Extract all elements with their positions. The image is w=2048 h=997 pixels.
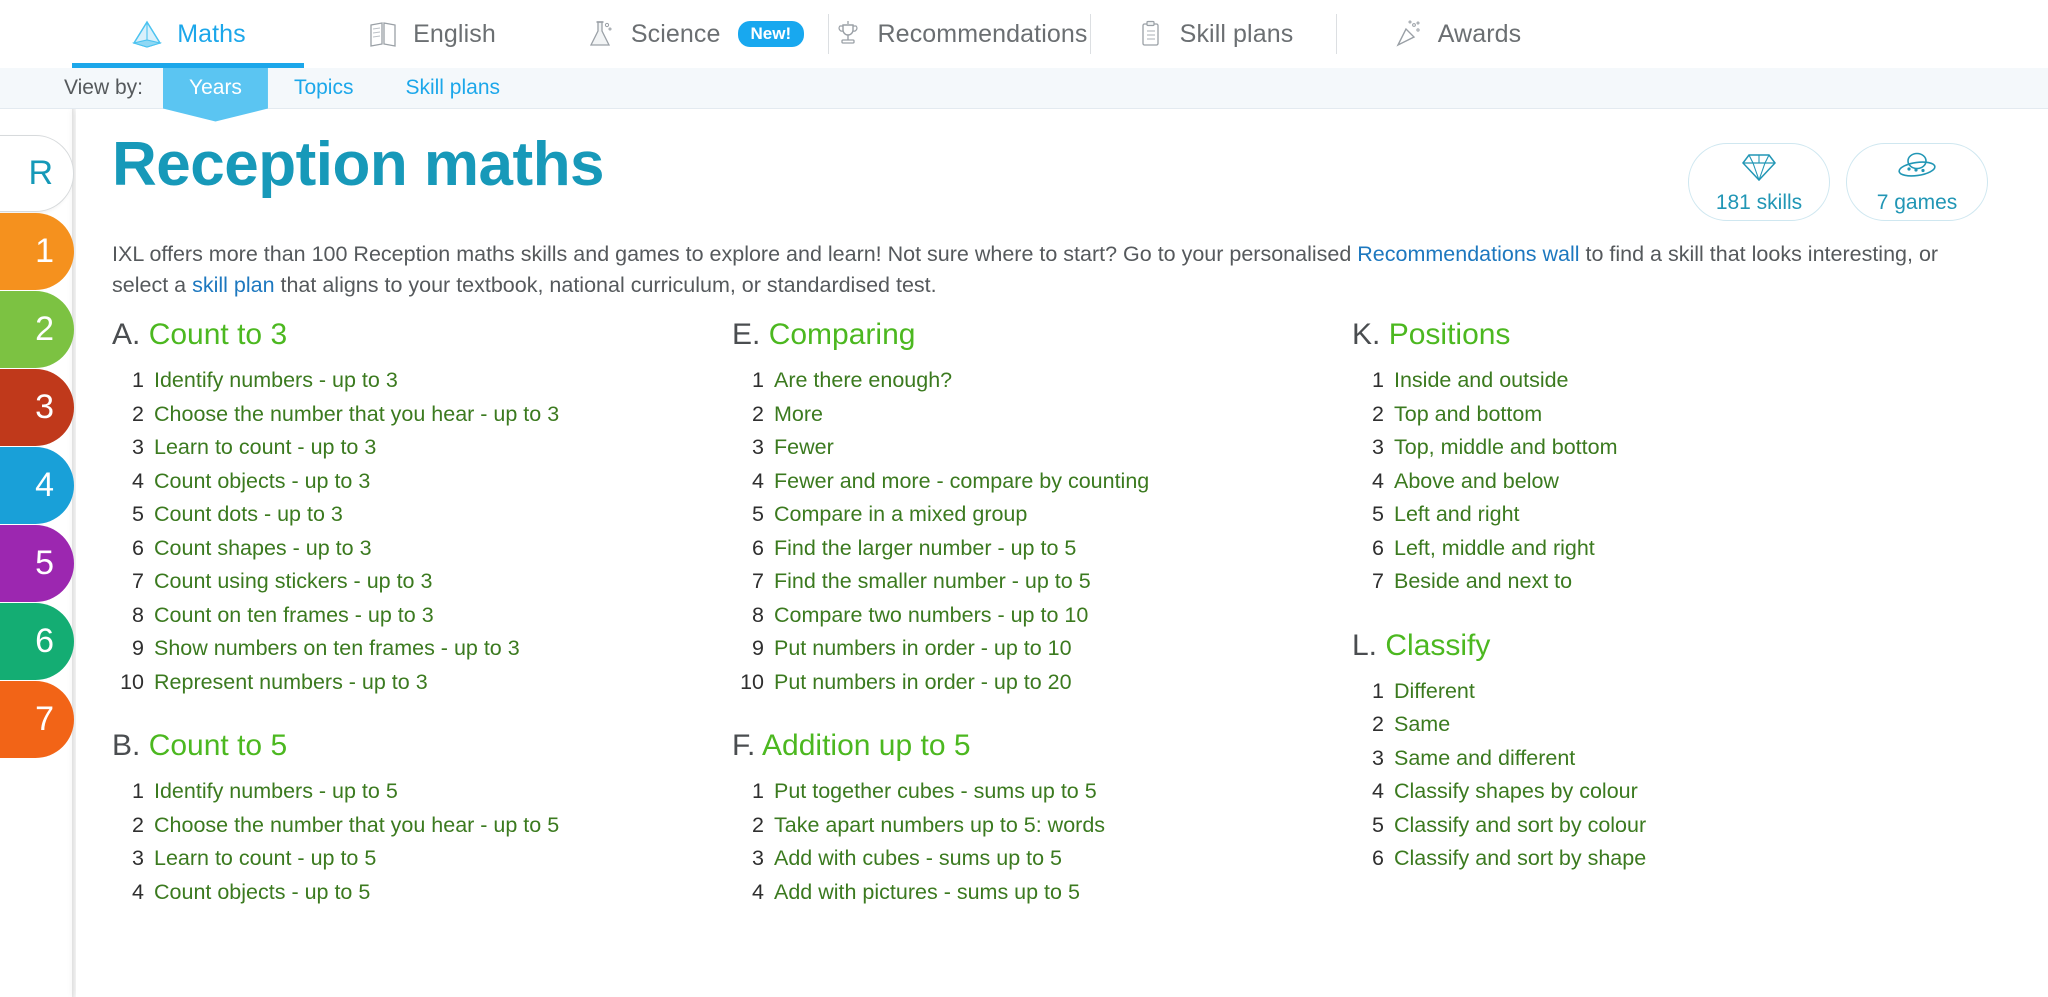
intro-text-3: that aligns to your textbook, national c…: [275, 273, 937, 297]
skill-link[interactable]: Put numbers in order - up to 20: [774, 672, 1072, 694]
skill-number: 3: [1352, 437, 1384, 459]
skill-row: 3Same and different: [1352, 742, 1992, 776]
skill-number: 1: [1352, 681, 1384, 703]
year-tab-5[interactable]: 5: [0, 525, 74, 602]
skill-number: 3: [112, 848, 144, 870]
nav-tab-recommendations[interactable]: Recommendations: [828, 0, 1090, 68]
stat-badge-label: 7 games: [1877, 191, 1958, 215]
skill-number: 1: [112, 781, 144, 803]
stat-badges: 181 skills7 games: [1688, 131, 1988, 221]
pyramid-icon: [130, 17, 164, 51]
skill-row: 4Above and below: [1352, 465, 1992, 499]
skill-link[interactable]: Compare in a mixed group: [774, 504, 1027, 526]
section-letter: L.: [1352, 629, 1377, 662]
skill-number: 2: [112, 815, 144, 837]
view-tab-skill-plans[interactable]: Skill plans: [379, 68, 526, 109]
skill-number: 10: [732, 672, 764, 694]
skill-row: 9Show numbers on ten frames - up to 3: [112, 632, 732, 666]
skill-section: L. Classify1Different2Same3Same and diff…: [1352, 629, 1992, 876]
skill-row: 1Are there enough?: [732, 364, 1352, 398]
skill-number: 4: [1352, 471, 1384, 493]
section-letter: K.: [1352, 318, 1380, 351]
section-letter: B.: [112, 729, 140, 762]
skill-number: 2: [732, 404, 764, 426]
skill-row: 7Count using stickers - up to 3: [112, 565, 732, 599]
view-tab-topics[interactable]: Topics: [268, 68, 380, 109]
skill-number: 4: [732, 471, 764, 493]
skill-column: E. Comparing1Are there enough?2More3Fewe…: [732, 318, 1352, 939]
skill-link[interactable]: Count objects - up to 3: [154, 471, 370, 493]
skill-row: 7Beside and next to: [1352, 565, 1992, 599]
skill-link[interactable]: Above and below: [1394, 471, 1559, 493]
skill-number: 6: [1352, 848, 1384, 870]
skill-number: 1: [1352, 370, 1384, 392]
skill-link[interactable]: Left and right: [1394, 504, 1520, 526]
skill-link[interactable]: Put together cubes - sums up to 5: [774, 781, 1097, 803]
skill-number: 3: [1352, 748, 1384, 770]
skill-row: 2Choose the number that you hear - up to…: [112, 809, 732, 843]
skill-number: 2: [732, 815, 764, 837]
year-rail: R1234567: [0, 109, 75, 997]
nav-tab-english[interactable]: English: [312, 0, 560, 68]
skill-number: 4: [112, 471, 144, 493]
skill-link[interactable]: Represent numbers - up to 3: [154, 672, 428, 694]
skill-row: 3Learn to count - up to 5: [112, 842, 732, 876]
section-heading: K. Positions: [1352, 318, 1992, 352]
section-title-link[interactable]: Addition up to 5: [762, 729, 971, 762]
flask-icon: [584, 17, 618, 51]
skill-row: 1Identify numbers - up to 5: [112, 775, 732, 809]
skill-row: 4Add with pictures - sums up to 5: [732, 876, 1352, 910]
skill-link[interactable]: Count using stickers - up to 3: [154, 571, 432, 593]
year-tab-label: 4: [35, 466, 54, 505]
view-tab-label: Skill plans: [405, 76, 500, 100]
skill-columns: A. Count to 31Identify numbers - up to 3…: [112, 318, 1988, 939]
skill-row: 1Identify numbers - up to 3: [112, 364, 732, 398]
skill-link[interactable]: Classify and sort by shape: [1394, 848, 1646, 870]
stat-badge-label: 181 skills: [1716, 191, 1802, 215]
nav-tab-science[interactable]: ScienceNew!: [560, 0, 828, 68]
skill-link[interactable]: Add with pictures - sums up to 5: [774, 882, 1080, 904]
skill-row: 8Compare two numbers - up to 10: [732, 599, 1352, 633]
skill-link[interactable]: Count objects - up to 5: [154, 882, 370, 904]
skill-link[interactable]: Left, middle and right: [1394, 538, 1595, 560]
skill-link[interactable]: Classify shapes by colour: [1394, 781, 1638, 803]
skill-number: 2: [112, 404, 144, 426]
year-tab-3[interactable]: 3: [0, 369, 74, 446]
skill-link[interactable]: Same: [1394, 714, 1450, 736]
section-letter: E.: [732, 318, 760, 351]
year-tab-label: 3: [35, 388, 54, 427]
year-tab-label: 1: [35, 232, 54, 271]
view-tab-label: Years: [189, 76, 242, 100]
stat-badge-diamond[interactable]: 181 skills: [1688, 143, 1830, 221]
skill-link[interactable]: Top and bottom: [1394, 404, 1542, 426]
skill-row: 2Choose the number that you hear - up to…: [112, 398, 732, 432]
skill-row: 6Left, middle and right: [1352, 532, 1992, 566]
skill-number: 3: [112, 437, 144, 459]
skill-row: 10Put numbers in order - up to 20: [732, 666, 1352, 700]
nav-tab-label: Recommendations: [878, 20, 1088, 49]
clipboard-icon: [1133, 17, 1167, 51]
year-tab-label: 5: [35, 544, 54, 583]
section-heading: L. Classify: [1352, 629, 1992, 663]
year-tab-label: R: [28, 154, 53, 193]
page-body: R1234567 Reception maths 181 skills7 gam…: [0, 109, 2048, 997]
skill-link[interactable]: Top, middle and bottom: [1394, 437, 1618, 459]
skill-row: 1Put together cubes - sums up to 5: [732, 775, 1352, 809]
skill-row: 4Classify shapes by colour: [1352, 775, 1992, 809]
page-title: Reception maths: [112, 131, 604, 199]
skill-link[interactable]: Same and different: [1394, 748, 1575, 770]
year-tab-6[interactable]: 6: [0, 603, 74, 680]
section-letter: F.: [732, 729, 755, 762]
section-heading: A. Count to 3: [112, 318, 732, 352]
skill-link[interactable]: Compare two numbers - up to 10: [774, 605, 1088, 627]
view-by-label: View by:: [64, 76, 143, 100]
skill-link[interactable]: Find the larger number - up to 5: [774, 538, 1076, 560]
nav-tab-maths[interactable]: Maths: [64, 0, 312, 68]
skill-number: 6: [732, 538, 764, 560]
skill-row: 1Inside and outside: [1352, 364, 1992, 398]
skill-number: 4: [1352, 781, 1384, 803]
stat-badge-ufo[interactable]: 7 games: [1846, 143, 1988, 221]
skill-number: 5: [732, 504, 764, 526]
diamond-icon: [1739, 150, 1779, 189]
skill-number: 7: [112, 571, 144, 593]
year-tab-label: 6: [35, 622, 54, 661]
skill-number: 10: [112, 672, 144, 694]
skill-row: 3Top, middle and bottom: [1352, 431, 1992, 465]
skill-row: 4Fewer and more - compare by counting: [732, 465, 1352, 499]
skill-number: 3: [732, 848, 764, 870]
skill-row: 6Classify and sort by shape: [1352, 842, 1992, 876]
skill-row: 10Represent numbers - up to 3: [112, 666, 732, 700]
skill-section: B. Count to 51Identify numbers - up to 5…: [112, 729, 732, 909]
skill-link[interactable]: Identify numbers - up to 5: [154, 781, 398, 803]
view-by-bar: View by: YearsTopicsSkill plans: [0, 68, 2048, 109]
year-tab-7[interactable]: 7: [0, 681, 74, 758]
year-tab-1[interactable]: 1: [0, 213, 74, 290]
year-tab-label: 2: [35, 310, 54, 349]
skill-link[interactable]: Find the smaller number - up to 5: [774, 571, 1091, 593]
skill-row: 5Compare in a mixed group: [732, 498, 1352, 532]
skill-link[interactable]: Add with cubes - sums up to 5: [774, 848, 1062, 870]
skill-number: 2: [1352, 404, 1384, 426]
section-title-link[interactable]: Classify: [1385, 629, 1490, 662]
skill-link[interactable]: Fewer: [774, 437, 834, 459]
skill-row: 2Same: [1352, 708, 1992, 742]
section-heading: B. Count to 5: [112, 729, 732, 763]
skill-row: 3Add with cubes - sums up to 5: [732, 842, 1352, 876]
skill-number: 5: [1352, 504, 1384, 526]
skill-number: 7: [732, 571, 764, 593]
trophy-icon: [831, 17, 865, 51]
skill-row: 4Count objects - up to 5: [112, 876, 732, 910]
skill-column: K. Positions1Inside and outside2Top and …: [1352, 318, 1992, 939]
skill-number: 8: [112, 605, 144, 627]
skill-number: 6: [1352, 538, 1384, 560]
skill-number: 8: [732, 605, 764, 627]
skill-row: 5Classify and sort by colour: [1352, 809, 1992, 843]
section-title-link[interactable]: Positions: [1389, 318, 1511, 351]
skill-row: 6Find the larger number - up to 5: [732, 532, 1352, 566]
skill-link[interactable]: Count shapes - up to 3: [154, 538, 372, 560]
skill-link[interactable]: Identify numbers - up to 3: [154, 370, 398, 392]
skill-number: 9: [732, 638, 764, 660]
book-icon: [366, 17, 400, 51]
skill-row: 5Count dots - up to 3: [112, 498, 732, 532]
new-badge: New!: [738, 21, 805, 47]
skill-row: 9Put numbers in order - up to 10: [732, 632, 1352, 666]
section-letter: A.: [112, 318, 140, 351]
view-tab-years[interactable]: Years: [163, 68, 268, 109]
skill-link[interactable]: Learn to count - up to 5: [154, 848, 376, 870]
year-tab-label: 7: [35, 700, 54, 739]
skill-link[interactable]: Choose the number that you hear - up to …: [154, 815, 559, 837]
section-heading: F. Addition up to 5: [732, 729, 1352, 763]
year-tab-2[interactable]: 2: [0, 291, 74, 368]
skill-row: 3Learn to count - up to 3: [112, 431, 732, 465]
skill-row: 3Fewer: [732, 431, 1352, 465]
skill-row: 2Take apart numbers up to 5: words: [732, 809, 1352, 843]
skill-number: 1: [732, 781, 764, 803]
main-content: Reception maths 181 skills7 games IXL of…: [76, 109, 2048, 997]
skill-link[interactable]: Beside and next to: [1394, 571, 1572, 593]
recommendations-wall-link[interactable]: Recommendations wall: [1357, 242, 1579, 266]
skill-link[interactable]: Put numbers in order - up to 10: [774, 638, 1072, 660]
year-tab-r[interactable]: R: [0, 135, 74, 212]
section-title-link[interactable]: Comparing: [769, 318, 916, 351]
section-heading: E. Comparing: [732, 318, 1352, 352]
skill-link[interactable]: Classify and sort by colour: [1394, 815, 1646, 837]
skill-number: 1: [112, 370, 144, 392]
skill-link[interactable]: Learn to count - up to 3: [154, 437, 376, 459]
header-row: Reception maths 181 skills7 games: [112, 131, 1988, 221]
top-navigation: MathsEnglishScienceNew!RecommendationsSk…: [0, 0, 2048, 68]
skill-number: 3: [732, 437, 764, 459]
intro-paragraph: IXL offers more than 100 Reception maths…: [112, 239, 1988, 300]
skill-plan-link[interactable]: skill plan: [192, 273, 274, 297]
skill-link[interactable]: Inside and outside: [1394, 370, 1569, 392]
nav-tab-skill-plans[interactable]: Skill plans: [1090, 0, 1336, 68]
nav-tab-awards[interactable]: Awards: [1336, 0, 1576, 68]
skill-section: F. Addition up to 51Put together cubes -…: [732, 729, 1352, 909]
skill-link[interactable]: Are there enough?: [774, 370, 952, 392]
skill-number: 6: [112, 538, 144, 560]
skill-link[interactable]: Different: [1394, 681, 1475, 703]
intro-text-1: IXL offers more than 100 Reception maths…: [112, 242, 1357, 266]
skill-number: 9: [112, 638, 144, 660]
skill-number: 4: [732, 882, 764, 904]
skill-link[interactable]: More: [774, 404, 823, 426]
skill-row: 8Count on ten frames - up to 3: [112, 599, 732, 633]
year-tab-4[interactable]: 4: [0, 447, 74, 524]
view-tab-label: Topics: [294, 76, 354, 100]
ufo-icon: [1895, 150, 1939, 189]
skill-number: 4: [112, 882, 144, 904]
nav-tab-label: Awards: [1438, 20, 1522, 49]
section-title-link[interactable]: Count to 5: [149, 729, 287, 762]
skill-link[interactable]: Fewer and more - compare by counting: [774, 471, 1149, 493]
nav-tab-label: Skill plans: [1180, 20, 1294, 49]
skill-link[interactable]: Take apart numbers up to 5: words: [774, 815, 1105, 837]
skill-number: 2: [1352, 714, 1384, 736]
skill-section: A. Count to 31Identify numbers - up to 3…: [112, 318, 732, 699]
skill-row: 1Different: [1352, 675, 1992, 709]
skill-link[interactable]: Show numbers on ten frames - up to 3: [154, 638, 520, 660]
skill-row: 2More: [732, 398, 1352, 432]
nav-tab-label: English: [413, 20, 496, 49]
skill-row: 4Count objects - up to 3: [112, 465, 732, 499]
skill-number: 5: [1352, 815, 1384, 837]
skill-row: 6Count shapes - up to 3: [112, 532, 732, 566]
skill-link[interactable]: Count on ten frames - up to 3: [154, 605, 434, 627]
skill-link[interactable]: Choose the number that you hear - up to …: [154, 404, 559, 426]
skill-row: 2Top and bottom: [1352, 398, 1992, 432]
skill-number: 7: [1352, 571, 1384, 593]
section-title-link[interactable]: Count to 3: [149, 318, 287, 351]
skill-row: 7Find the smaller number - up to 5: [732, 565, 1352, 599]
nav-tab-label: Science: [631, 20, 721, 49]
skill-column: A. Count to 31Identify numbers - up to 3…: [112, 318, 732, 939]
skill-section: E. Comparing1Are there enough?2More3Fewe…: [732, 318, 1352, 699]
skill-number: 5: [112, 504, 144, 526]
party-popper-icon: [1391, 17, 1425, 51]
skill-number: 1: [732, 370, 764, 392]
skill-link[interactable]: Count dots - up to 3: [154, 504, 343, 526]
skill-row: 5Left and right: [1352, 498, 1992, 532]
skill-section: K. Positions1Inside and outside2Top and …: [1352, 318, 1992, 599]
nav-tab-label: Maths: [177, 20, 246, 49]
